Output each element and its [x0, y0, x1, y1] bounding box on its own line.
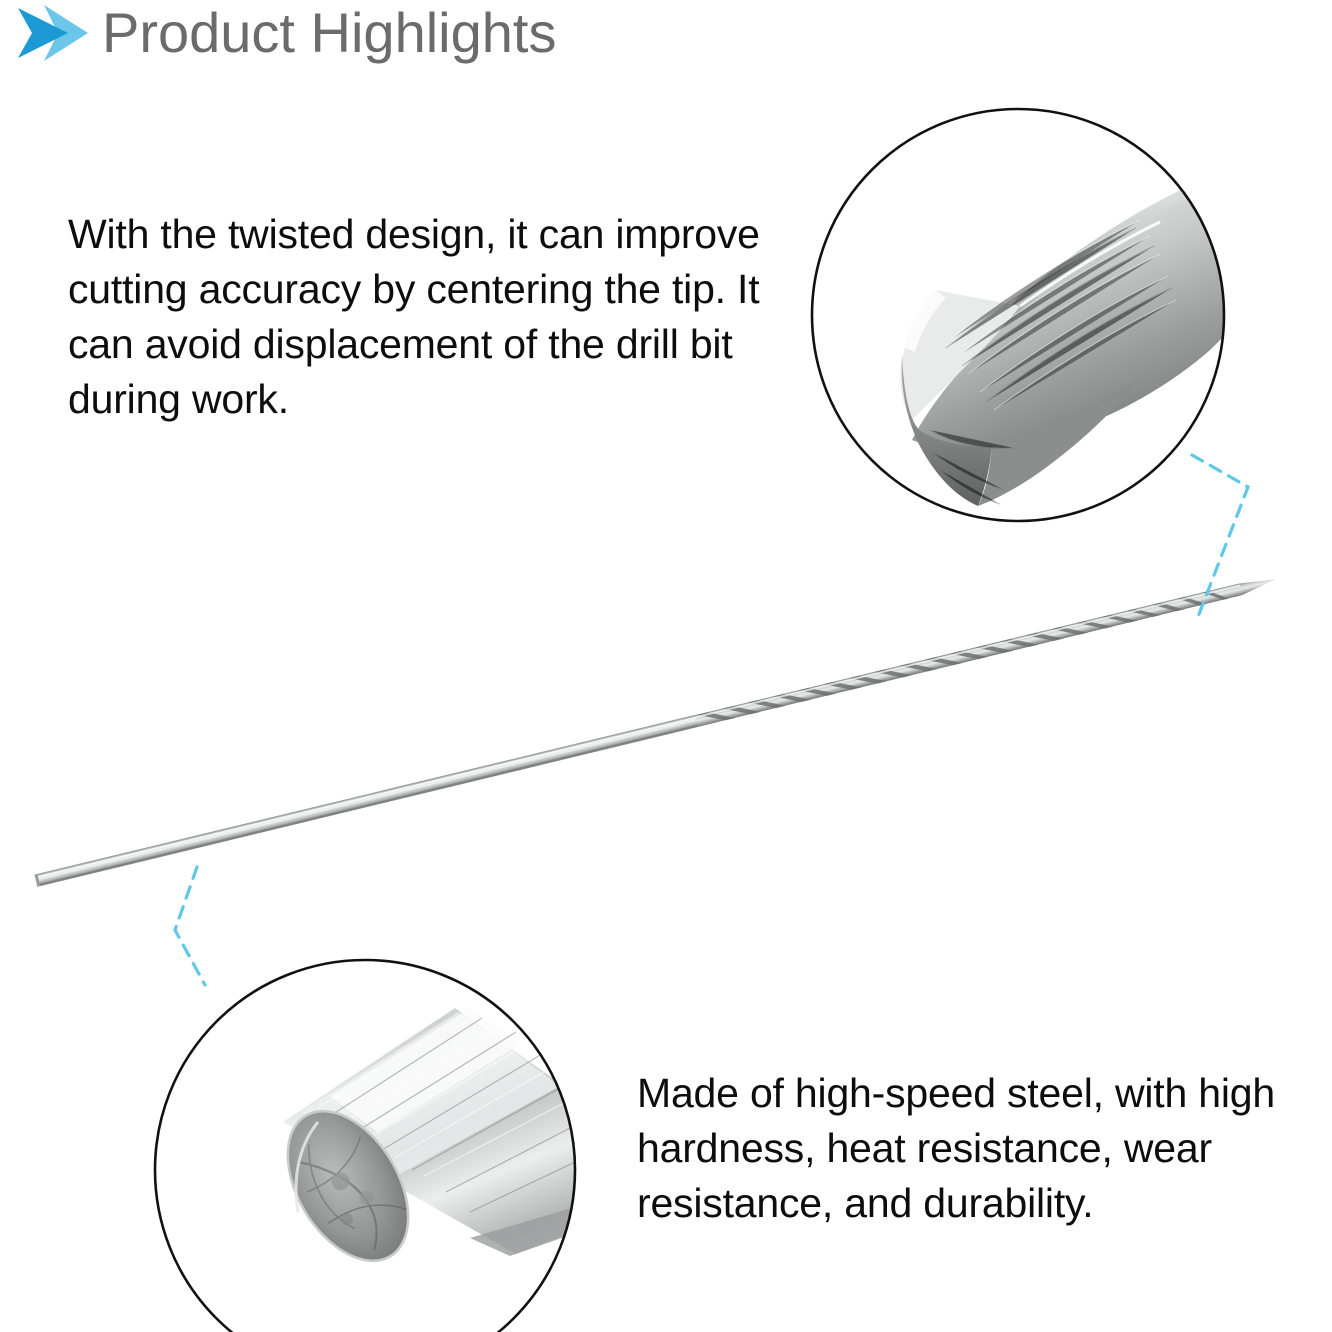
callout-drill-tip: [812, 109, 1252, 521]
drill-shank: [34, 715, 698, 887]
callout-drill-shank: [155, 960, 700, 1332]
page-title: Product Highlights: [102, 2, 556, 64]
infographic-canvas: Product Highlights With the twisted desi…: [0, 0, 1332, 1332]
drill-bit-full: [34, 575, 1277, 887]
leader-line-shank: [175, 867, 205, 985]
feature-description-high-speed-steel: Made of high-speed steel, with high hard…: [637, 1066, 1332, 1231]
double-chevron-right-icon: [14, 2, 92, 64]
drill-flutes: [695, 575, 1277, 727]
page-header: Product Highlights: [14, 2, 556, 64]
feature-description-twisted-design: With the twisted design, it can improve …: [68, 207, 828, 427]
